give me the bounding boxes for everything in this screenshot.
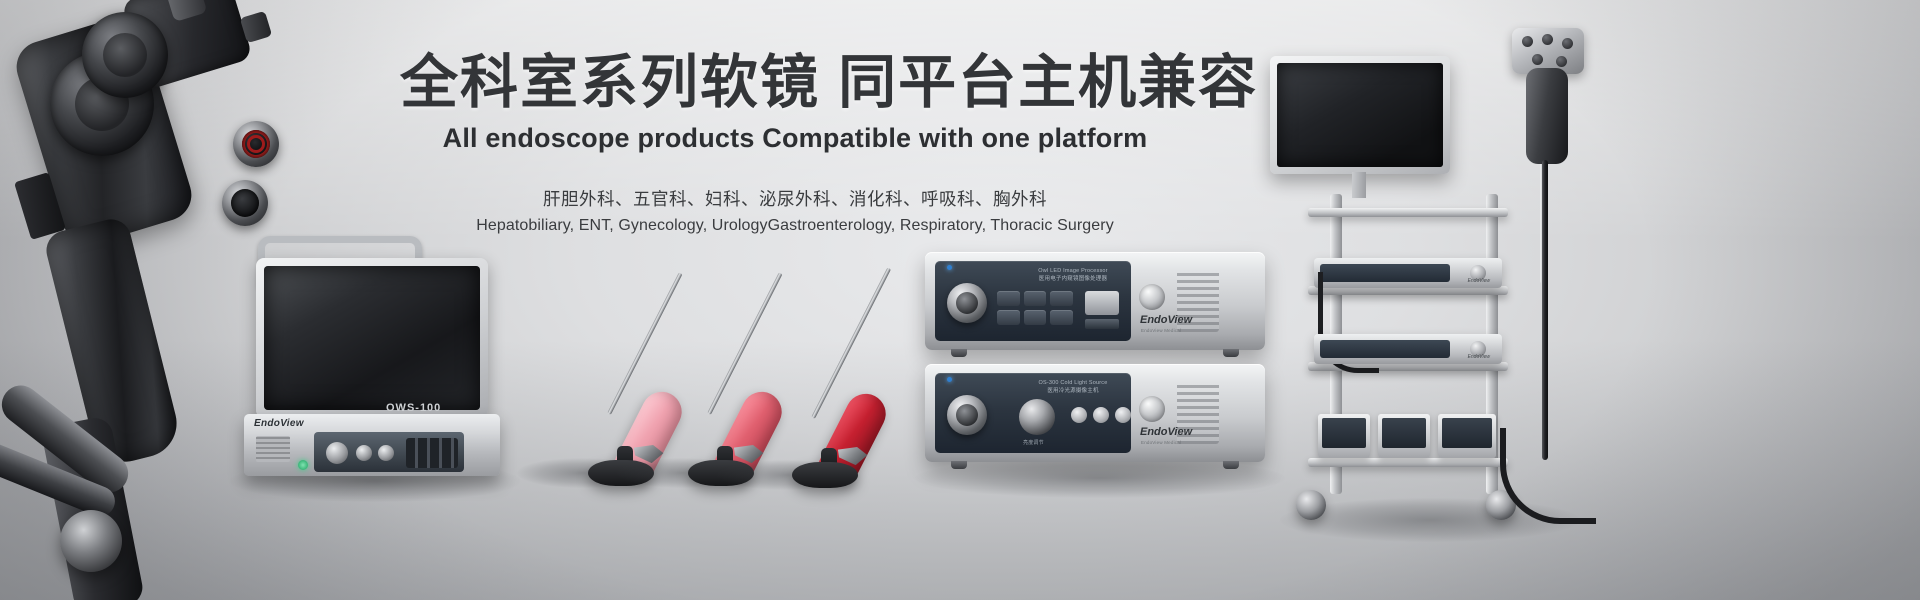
processor-brand: EndoView [1140,314,1192,326]
cold-light-source: OS-300 Cold Light Source 医用冷光源摄像主机 亮度调节 … [925,364,1265,462]
processor-title-en: Owl LED Image Processor [1038,268,1107,274]
lightsource-button-whitebalance [1093,407,1109,423]
cart-caster-wheel [1296,490,1326,520]
cart-device-panel [1320,340,1450,358]
lightsource-front-panel: OS-300 Cold Light Source 医用冷光源摄像主机 亮度调节 [935,373,1131,453]
lightsource-title-cn: 医用冷光源摄像主机 [1047,388,1098,394]
banner-text-block: 全科室系列软镜 同平台主机兼容 All endoscope products C… [400,52,1190,235]
console-screen [264,266,480,410]
lightsource-brand: EndoView [1140,426,1192,438]
endoscope-angulation-wheel-small [82,12,168,98]
lightsource-power-led [947,377,952,382]
endoscope-suction-valve [233,121,279,167]
processor-button [1050,291,1073,306]
processor-button [997,291,1020,306]
lightsource-button-store [1071,407,1087,423]
console-main-dial [326,442,348,464]
console-dial-3 [378,445,394,461]
lightsource-brightness-dial [1019,399,1055,435]
cart-accessory-unit [1378,414,1430,458]
processor-button-grid [997,291,1073,325]
endoscopy-tower-cart: EndoView EndoView [1290,28,1620,548]
processor-power-led [947,265,952,270]
cart-device-brand: EndoView [1468,278,1490,284]
cart-device-brand: EndoView [1468,354,1490,360]
cart-base-frame [1304,486,1514,496]
lightsource-foot [1223,461,1239,469]
portable-workstation: OWS-100 EndoView [236,236,506,476]
instrument-base [792,462,858,488]
processor-button [1024,310,1047,325]
cart-device-lightsource: EndoView [1314,334,1502,364]
processor-front-panel: Owl LED Image Processor 医用电子内窥镜图像处理器 [935,261,1131,341]
processor-stack: Owl LED Image Processor 医用电子内窥镜图像处理器 End… [925,252,1275,476]
camera-image-processor: Owl LED Image Processor 医用电子内窥镜图像处理器 End… [925,252,1265,350]
lightsource-socket-ring [947,395,987,435]
console-keypad [406,438,458,468]
lightsource-output-socket [1139,396,1165,422]
page-title: 全科室系列软镜 同平台主机兼容 [400,52,1190,115]
lightsource-title-en: OS-300 Cold Light Source [1038,380,1107,386]
console-dial-2 [356,445,372,461]
processor-scope-socket [1139,284,1165,310]
instrument-shaft [811,267,891,419]
endoscope-airwater-valve [222,180,268,226]
cart-accessory-unit [1438,414,1496,458]
lightsource-button-freeze [1115,407,1131,423]
console-power-indicator [298,460,308,470]
processor-usb-port [1085,291,1119,315]
cart-accessory-unit [1318,414,1370,458]
console-vent [256,436,290,462]
scope-insertion-tube [1542,160,1548,460]
instrument-red [715,252,865,490]
console-brand-label: EndoView [254,418,304,429]
processor-button [1050,310,1073,325]
console-display-bezel [256,258,488,418]
processor-button [1024,291,1047,306]
processor-title: Owl LED Image Processor 医用电子内窥镜图像处理器 [1021,267,1125,284]
departments-cn: 肝胆外科、五官科、妇科、泌尿外科、消化科、呼吸科、胸外科 [400,186,1190,211]
console-model-label: OWS-100 [386,402,441,414]
lightsource-brand-sub: EndoView Medical [1141,440,1181,445]
endoscope-light-guide-plug [60,510,122,572]
cart-shelf [1308,208,1508,217]
lightsource-title: OS-300 Cold Light Source 医用冷光源摄像主机 [1021,379,1125,396]
processor-main-knob [947,283,987,323]
lightsource-foot [951,461,967,469]
processor-aux-port [1085,319,1119,329]
processor-button [997,310,1020,325]
departments-en: Hepatobiliary, ENT, Gynecology, UrologyG… [400,217,1190,235]
processor-brand-sub: EndoView Medical [1141,328,1181,333]
processor-foot [1223,349,1239,357]
lightsource-dial-label: 亮度调节 [1023,439,1044,446]
cart-monitor-screen [1277,63,1443,167]
cart-shelf [1308,458,1508,467]
processor-title-cn: 医用电子内窥镜图像处理器 [1039,276,1107,282]
cart-monitor-mount [1352,172,1366,198]
cart-monitor [1270,56,1450,174]
page-subtitle: All endoscope products Compatible with o… [400,123,1190,154]
processor-foot [951,349,967,357]
endoscope-product-banner: 全科室系列软镜 同平台主机兼容 All endoscope products C… [0,0,1920,600]
scope-control-grip [1526,68,1568,164]
